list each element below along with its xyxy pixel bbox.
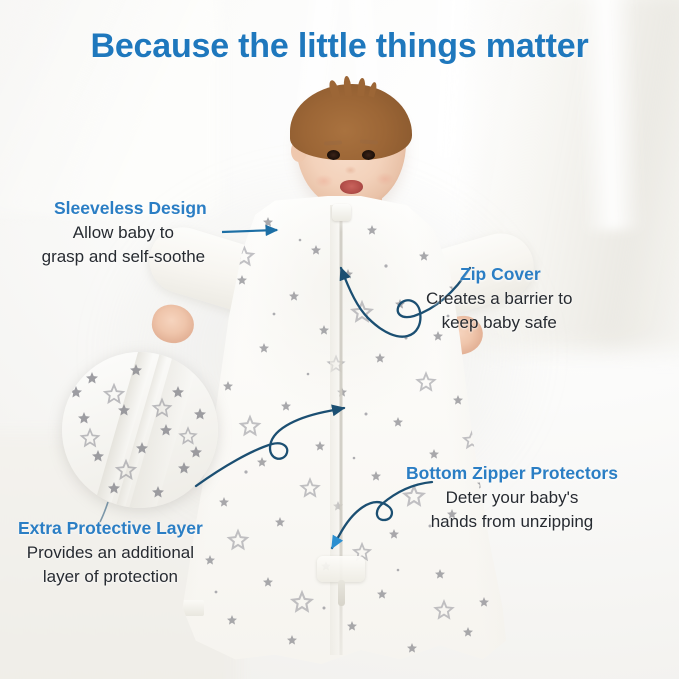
page-title: Because the little things matter — [0, 27, 679, 66]
baby-cheek — [372, 170, 398, 188]
callout-title: Extra Protective Layer — [18, 518, 203, 539]
callout-body-line1: Allow baby to — [40, 223, 207, 243]
bottom-zipper-protector — [317, 556, 365, 582]
baby-cheek — [311, 172, 337, 190]
baby-eye — [362, 150, 375, 160]
callout-body-line1: Deter your baby's — [406, 488, 618, 508]
zipper-pull — [338, 580, 345, 606]
baby-eye — [327, 150, 340, 160]
callout-body-line2: layer of protection — [18, 567, 203, 587]
baby-hair-tuft — [343, 76, 352, 97]
callout-bottom-zipper-protectors: Bottom Zipper Protectors Deter your baby… — [406, 463, 618, 531]
baby-mouth — [340, 180, 363, 194]
callout-zip-cover: Zip Cover Creates a barrier to keep baby… — [426, 264, 572, 332]
infographic-canvas: Because the little things matter Sleevel… — [0, 0, 679, 679]
callout-body-line1: Creates a barrier to — [426, 289, 572, 309]
callout-title: Bottom Zipper Protectors — [406, 463, 618, 484]
baby-left-hand — [149, 301, 198, 347]
detail-zoom-inset — [62, 352, 218, 508]
callout-body-line2: grasp and self-soothe — [40, 247, 207, 267]
callout-sleeveless-design: Sleeveless Design Allow baby to grasp an… — [40, 198, 207, 266]
callout-body-line2: keep baby safe — [426, 313, 572, 333]
callout-title: Sleeveless Design — [40, 198, 207, 219]
baby-nose — [342, 163, 359, 175]
zip-cover-tab — [332, 204, 351, 221]
callout-title: Zip Cover — [426, 264, 572, 285]
callout-body-line2: hands from unzipping — [406, 512, 618, 532]
callout-body-line1: Provides an additional — [18, 543, 203, 563]
callout-extra-protective-layer: Extra Protective Layer Provides an addit… — [18, 518, 203, 586]
